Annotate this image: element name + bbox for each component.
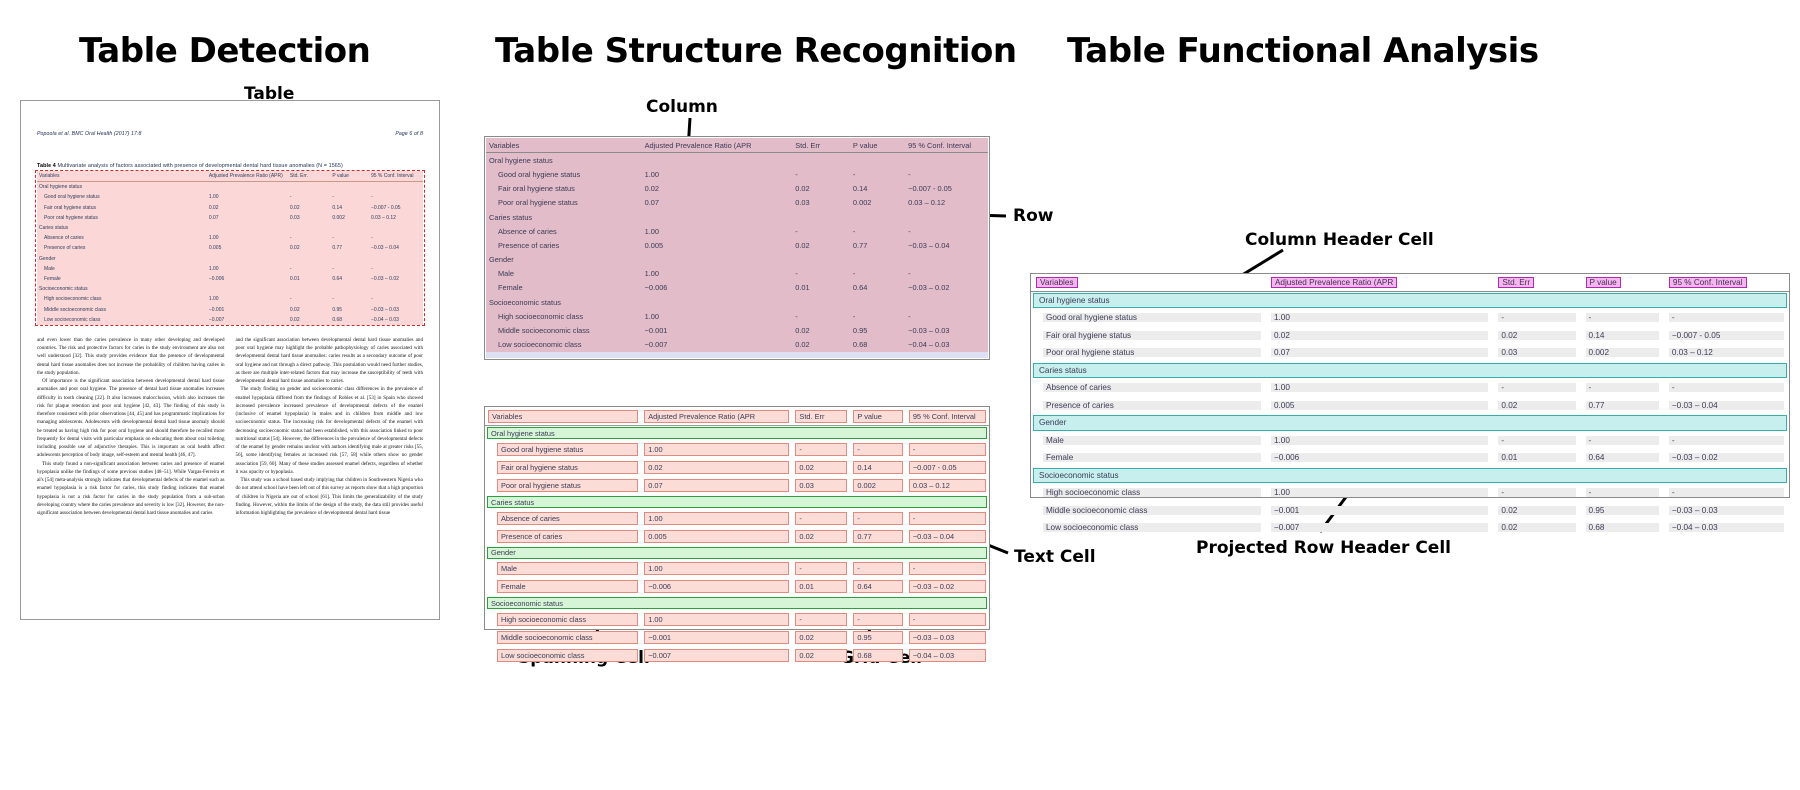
table-cell: - [792,440,850,458]
grid-cell-box: Male [497,562,638,575]
table-cell: - [369,192,423,202]
table-cell: −0.03 – 0.03 [906,628,989,646]
row-label-cell: Female [1031,449,1266,467]
table-cell: - [330,233,369,243]
table-cell: 0.02 [1493,397,1580,415]
table-cell: 0.14 [1581,327,1664,345]
data-cell-box: 0.03 [1498,348,1575,357]
table-cell: - [288,233,330,243]
table-cell: 0.002 [1581,344,1664,362]
table-cell: −0.03 – 0.04 [1664,397,1789,415]
data-cell-box: −0.001 [1271,506,1488,515]
row-label-cell: Female [485,578,641,596]
table-cell: 0.77 [330,243,369,253]
row-label-cell: Good oral hygiene status [37,192,207,202]
table-row: High socioeconomic class1.00--- [37,294,423,304]
table-cell: 0.02 [288,243,330,253]
table-cell: 0.02 [792,628,850,646]
table-cell: 1.00 [641,610,792,628]
row-label-cell: Low socioeconomic class [1031,519,1266,537]
table-cell: −0.03 – 0.03 [905,323,988,337]
column-header-cell: Std. Err [792,138,850,153]
table-row: Presence of caries0.0050.020.77−0.03 – 0… [1031,397,1789,415]
projected-row-header-cell: Oral hygiene status [1031,292,1789,310]
grid-cell-box: - [909,512,986,525]
grid-cell-box: Absence of caries [497,512,638,525]
table-row: Male1.00--- [485,560,989,578]
spanning-cell-box [487,547,987,559]
document-paragraph: and the significant association between … [236,336,424,386]
grid-cell-box: Low socioeconomic class [497,649,638,662]
row-label-cell: Caries status [37,223,207,233]
data-cell-box: - [1586,383,1659,392]
column-header-cell-box: 95 % Conf. Interval [1669,277,1747,288]
row-label-cell: Socioeconomic status [37,284,207,294]
row-label-cell: Middle socioeconomic class [485,628,641,646]
grid-cell-box: 1.00 [644,562,789,575]
table-cell: 0.02 [792,647,850,665]
table-cell: −0.007 [642,338,793,352]
table-cell: 0.02 [1493,502,1580,520]
table-cell: 0.77 [850,238,905,252]
row-header-row: Gender [37,254,423,264]
table-cell [369,284,423,294]
table-cell [207,284,288,294]
table-cell: −0.006 [1266,449,1493,467]
data-cell-box: - [1498,383,1575,392]
table-cell [369,223,423,233]
data-cell-box: 0.005 [1271,401,1488,410]
table-cell: 0.02 [792,323,850,337]
data-cell-box: −0.006 [1271,453,1488,462]
projected-row-header-cell: Gender [485,546,989,560]
table-row: Poor oral hygiene status0.070.030.0020.0… [37,213,423,223]
table-cell: - [850,440,905,458]
row-label-cell: Gender [37,254,207,264]
grid-cell-box: 0.07 [644,479,789,492]
row-label-cell: Presence of caries [1031,397,1266,415]
row-label-cell: Absence of caries [486,224,642,238]
table-cell: - [288,264,330,274]
projected-row-header-cell: Oral hygiene status [485,426,989,441]
row-label-cell: Low socioeconomic class [485,647,641,665]
table-cell: 0.02 [1493,327,1580,345]
table-cell: 0.14 [330,203,369,213]
document-body: and even lower than the caries prevalenc… [37,336,423,518]
table-cell: - [369,264,423,274]
data-cell-box: 0.68 [1586,523,1659,532]
table-cell: 1.00 [207,264,288,274]
row-header-cell-box [1033,363,1787,379]
grid-cell-box: Female [497,580,638,593]
data-cell-box: −0.03 – 0.03 [1669,506,1784,515]
table-cell: 0.03 – 0.12 [906,477,989,495]
table-cell: 0.68 [850,338,905,352]
table-cell: - [1664,432,1789,450]
grid-cell-box: Fair oral hygiene status [497,461,638,474]
grid-cell-box: - [795,613,847,626]
data-cell-box: 0.02 [1498,401,1575,410]
annotation-column-header-cell: Column Header Cell [1245,230,1434,250]
table-cell: - [1664,309,1789,327]
document-paragraph: and even lower than the caries prevalenc… [37,336,225,377]
data-cell-box: - [1498,313,1575,322]
structure-table-bottom: VariablesAdjusted Prevalence Ratio (APRS… [485,407,989,665]
row-label-cell: Fair oral hygiene status [37,203,207,213]
row-header-cell-box [1033,415,1787,431]
table-cell: 1.00 [207,294,288,304]
spanning-cell-label: Gender [488,548,516,557]
table-cell: - [905,267,988,281]
data-cell-box: - [1498,436,1575,445]
data-cell-box: 0.64 [1586,453,1659,462]
table-cell: 0.64 [850,578,905,596]
table-row: Male1.00--- [37,264,423,274]
grid-cell-box: 0.02 [644,461,789,474]
table-cell: - [330,192,369,202]
column-header-cell: Std. Err [1493,274,1580,292]
annotation-projected-row-header-cell: Projected Row Header Cell [1196,538,1451,558]
data-cell-box: 0.77 [1586,401,1659,410]
table-cell: - [792,610,850,628]
projected-row-header-row: Oral hygiene status [1031,292,1789,310]
table-row: Female−0.0060.010.64−0.03 – 0.02 [1031,449,1789,467]
grid-cell-box: P value [853,410,902,423]
grid-cell-box: Variables [488,410,638,423]
table-cell: - [850,309,905,323]
column-header-cell: Std. Err [792,407,850,426]
table-cell: −0.03 – 0.03 [1664,502,1789,520]
table-cell: 0.03 [792,477,850,495]
table-cell [207,182,288,193]
grid-cell-box: 95 % Conf. Interval [909,410,986,423]
row-header-row: Oral hygiene status [37,182,423,193]
table-cell: - [288,192,330,202]
table-caption-label: Table 4 [37,163,56,169]
grid-cell-box: −0.006 [644,580,789,593]
grid-cell-box: - [853,613,902,626]
table-cell: 0.02 [288,304,330,314]
table-cell: −0.04 – 0.03 [905,338,988,352]
projected-row-header-row: Gender [486,253,988,267]
data-cell-box: Female [1043,453,1261,462]
table-row: Female−0.0060.010.64−0.03 – 0.02 [485,578,989,596]
column-header-cell: P value [330,171,369,182]
grid-cell-box: −0.03 – 0.03 [909,631,986,644]
table-cell: 1.00 [641,560,792,578]
table-cell: −0.03 – 0.02 [369,274,423,284]
running-head-right: Page 6 of 8 [395,131,423,137]
data-cell-box: Male [1043,436,1261,445]
table-cell: - [330,264,369,274]
row-label-cell: Middle socioeconomic class [486,323,642,337]
data-cell-box: - [1586,436,1659,445]
grid-cell-box: 0.03 [795,479,847,492]
table-row: Good oral hygiene status1.00--- [485,440,989,458]
table-cell: 0.64 [330,274,369,284]
table-row: Low socioeconomic class−0.0070.020.68−0.… [37,315,423,325]
data-cell-box: −0.007 [1271,523,1488,532]
table-cell: - [1493,379,1580,397]
table-row: Presence of caries0.0050.020.77−0.03 – 0… [37,243,423,253]
running-head-left: Popoola et al. BMC Oral Health (2017) 17… [37,131,142,137]
table-cell: 0.77 [850,527,905,545]
row-label-cell: Good oral hygiene status [485,440,641,458]
table-cell: - [792,560,850,578]
column-header-cell-box: Variables [1036,277,1078,288]
table-cell: 0.03 [1493,344,1580,362]
grid-cell-box: 1.00 [644,443,789,456]
table-cell: 1.00 [642,224,793,238]
table-cell: - [905,167,988,181]
column-header-cell: Variables [37,171,207,182]
grid-cell-box: Adjusted Prevalence Ratio (APR [644,410,789,423]
column-header-cell: Variables [486,138,642,153]
table-cell: - [906,560,989,578]
document-paragraph: This study found a non-significant assoc… [37,460,225,518]
table-cell: 0.02 [792,459,850,477]
data-cell-box: 1.00 [1271,313,1488,322]
table-cell: - [1664,484,1789,502]
row-header-cell-box [1033,468,1787,484]
table-cell: - [1493,484,1580,502]
table-cell: −0.006 [642,281,793,295]
table-caption-text: Multivariate analysis of factors associa… [57,163,342,169]
table-cell [288,182,330,193]
table-cell [288,254,330,264]
table-cell: 0.64 [1581,449,1664,467]
table-row: Fair oral hygiene status0.020.020.14−0.0… [485,459,989,477]
row-header-label: Socioeconomic status [1036,471,1119,480]
grid-cell-box: 0.77 [853,530,902,543]
projected-row-header-cell: Gender [1031,414,1789,432]
column-header-cell-box: Adjusted Prevalence Ratio (APR [1271,277,1397,288]
grid-cell-box: 0.005 [644,530,789,543]
document-paragraph: This study was a school based study impl… [236,476,424,517]
table-cell: −0.006 [207,274,288,284]
document-paragraph: The study finding on gender and socioeco… [236,385,424,476]
table-row: High socioeconomic class1.00--- [486,309,988,323]
grid-cell-box: High socioeconomic class [497,613,638,626]
table-cell: 0.01 [1493,449,1580,467]
row-label-cell: Good oral hygiene status [1031,309,1266,327]
structure-overlay-layer: VariablesAdjusted Prevalence Ratio (APRS… [486,138,988,358]
table-cell: - [906,610,989,628]
table-cell: 0.02 [641,459,792,477]
row-label-cell: Fair oral hygiene status [485,459,641,477]
table-cell: - [1493,432,1580,450]
grid-cell-box: - [853,443,902,456]
data-cell-box: - [1498,488,1575,497]
table-row: Middle socioeconomic class−0.0010.020.95… [37,304,423,314]
projected-row-header-row: Caries status [485,495,989,509]
table-cell: - [850,167,905,181]
table-cell: 0.01 [792,281,850,295]
row-label-cell: Low socioeconomic class [37,315,207,325]
grid-cell-box: 0.01 [795,580,847,593]
table-row: Male1.00--- [1031,432,1789,450]
table-cell [207,223,288,233]
column-header-cell: 95 % Conf. Interval [369,171,423,182]
data-cell-box: 0.02 [1498,523,1575,532]
projected-row-header-row: Oral hygiene status [486,153,988,168]
data-cell-box: −0.007 - 0.05 [1669,331,1784,340]
table-cell: 1.00 [642,267,793,281]
data-cell-box: - [1669,383,1784,392]
projected-row-header-row: Socioeconomic status [485,596,989,610]
table-cell: - [906,440,989,458]
table-row: Fair oral hygiene status0.020.020.14−0.0… [486,182,988,196]
data-cell-box: 1.00 [1271,488,1488,497]
row-label-cell: Male [1031,432,1266,450]
table-row: Absence of caries1.00--- [37,233,423,243]
table-cell: 0.95 [850,323,905,337]
table-row: Low socioeconomic class−0.0070.020.68−0.… [485,647,989,665]
grid-cell-box: −0.007 [644,649,789,662]
table-cell: −0.007 - 0.05 [906,459,989,477]
table-cell: −0.04 – 0.03 [369,315,423,325]
table-cell: 1.00 [1266,432,1493,450]
table-row: Presence of caries0.0050.020.77−0.03 – 0… [485,527,989,545]
table-cell: −0.006 [641,578,792,596]
document-running-head: Popoola et al. BMC Oral Health (2017) 17… [37,131,423,137]
table-cell: 0.02 [1493,519,1580,537]
grid-cell-box: - [909,562,986,575]
data-cell-box: −0.04 – 0.03 [1669,523,1784,532]
column-header-cell: Adjusted Prevalence Ratio (APR [1266,274,1493,292]
grid-cell-box: −0.001 [644,631,789,644]
grid-cell-box: −0.03 – 0.04 [909,530,986,543]
table-cell: 1.00 [207,233,288,243]
table-cell: - [850,560,905,578]
table-cell: - [1581,309,1664,327]
spanning-cell-label: Caries status [488,498,534,507]
table-cell: 0.07 [1266,344,1493,362]
table-cell: −0.007 - 0.05 [905,182,988,196]
table-cell: 0.005 [642,238,793,252]
data-cell-box: Presence of caries [1043,401,1261,410]
table-cell: −0.03 – 0.02 [905,281,988,295]
row-label-cell: Presence of caries [486,238,642,252]
table-header-row: VariablesAdjusted Prevalence Ratio (APR)… [37,171,423,182]
data-cell-box: Fair oral hygiene status [1043,331,1261,340]
table-cell: - [1581,379,1664,397]
row-label-cell: Male [485,560,641,578]
annotation-column: Column [646,97,718,117]
grid-cell-box: 0.14 [853,461,902,474]
table-row: Middle socioeconomic class−0.0010.020.95… [1031,502,1789,520]
table-cell: 0.002 [850,196,905,210]
panel-title-functional: Table Functional Analysis [1067,31,1539,71]
table-cell: 0.005 [207,243,288,253]
table-cell: 0.02 [792,527,850,545]
row-label-cell: Male [486,267,642,281]
structure-table-top: VariablesAdjusted Prevalence Ratio (APRS… [486,138,988,352]
table-cell: 0.68 [1581,519,1664,537]
projected-row-header-row: Oral hygiene status [485,426,989,441]
grid-cell-box: −0.04 – 0.03 [909,649,986,662]
grid-cell-box: Good oral hygiene status [497,443,638,456]
column-header-cell: Adjusted Prevalence Ratio (APR [642,138,793,153]
grid-cell-box: - [795,443,847,456]
column-header-cell: P value [1581,274,1664,292]
table-cell: −0.03 – 0.04 [906,527,989,545]
table-cell: −0.007 [207,315,288,325]
table-cell: −0.03 – 0.02 [1664,449,1789,467]
document-paragraph: Of importance is the significant associa… [37,377,225,460]
grid-cell-box: 0.02 [795,461,847,474]
table-caption: Table 4 Multivariate analysis of factors… [37,163,423,169]
table-cell: 0.03 [288,213,330,223]
row-label-cell: Absence of caries [485,509,641,527]
table-cell: −0.001 [642,323,793,337]
table-cell: - [905,224,988,238]
table-cell: 0.68 [850,647,905,665]
table-cell: - [850,610,905,628]
data-cell-box: 0.01 [1498,453,1575,462]
table-cell: 0.64 [850,281,905,295]
document-page: Popoola et al. BMC Oral Health (2017) 17… [20,100,440,620]
table-row: Fair oral hygiene status0.020.020.14−0.0… [37,203,423,213]
table-cell: - [850,267,905,281]
row-label-cell: Middle socioeconomic class [37,304,207,314]
table-cell: 1.00 [641,440,792,458]
grid-cell-box: 0.68 [853,649,902,662]
table-row: Fair oral hygiene status0.020.020.14−0.0… [1031,327,1789,345]
grid-cell-box: 0.03 – 0.12 [909,479,986,492]
table-cell: 1.00 [641,509,792,527]
annotation-text-cell: Text Cell [1014,547,1096,567]
table-cell: −0.03 – 0.04 [369,243,423,253]
table-row: Good oral hygiene status1.00--- [486,167,988,181]
table-cell: 0.02 [642,182,793,196]
data-cell-box: 0.02 [1271,331,1488,340]
table-row: Low socioeconomic class−0.0070.020.68−0.… [1031,519,1789,537]
row-label-cell: High socioeconomic class [37,294,207,304]
column-header-cell: Adjusted Prevalence Ratio (APR [641,407,792,426]
table-row: Presence of caries0.0050.020.77−0.03 – 0… [486,238,988,252]
row-label-cell: Low socioeconomic class [486,338,642,352]
table-row: Good oral hygiene status1.00--- [1031,309,1789,327]
table-row: Female−0.0060.010.64−0.03 – 0.02 [486,281,988,295]
spanning-cell-label: Oral hygiene status [488,429,555,438]
column-header-cell: Adjusted Prevalence Ratio (APR) [207,171,288,182]
data-cell-box: 0.07 [1271,348,1488,357]
table-cell: - [369,233,423,243]
spanning-cell-label: Socioeconomic status [488,599,563,608]
table-cell [288,223,330,233]
projected-row-header-cell: Caries status [485,495,989,509]
table-cell: - [330,294,369,304]
row-header-label: Oral hygiene status [1036,296,1110,305]
grid-cell-box: Middle socioeconomic class [497,631,638,644]
annotation-row: Row [1013,206,1053,226]
spanning-cell-box [487,427,987,439]
row-label-cell: High socioeconomic class [486,309,642,323]
row-label-cell: Presence of caries [485,527,641,545]
grid-cell-box: - [909,443,986,456]
row-label-cell: Poor oral hygiene status [1031,344,1266,362]
grid-cell-box: 1.00 [644,613,789,626]
table-cell: 0.03 – 0.12 [1664,344,1789,362]
table-cell [330,182,369,193]
projected-row-header-row: Socioeconomic status [1031,467,1789,485]
table-cell: −0.03 – 0.04 [905,238,988,252]
table-cell: 0.68 [330,315,369,325]
grid-cell-box: - [795,512,847,525]
table-cell: 1.00 [207,192,288,202]
data-cell-box: - [1669,488,1784,497]
